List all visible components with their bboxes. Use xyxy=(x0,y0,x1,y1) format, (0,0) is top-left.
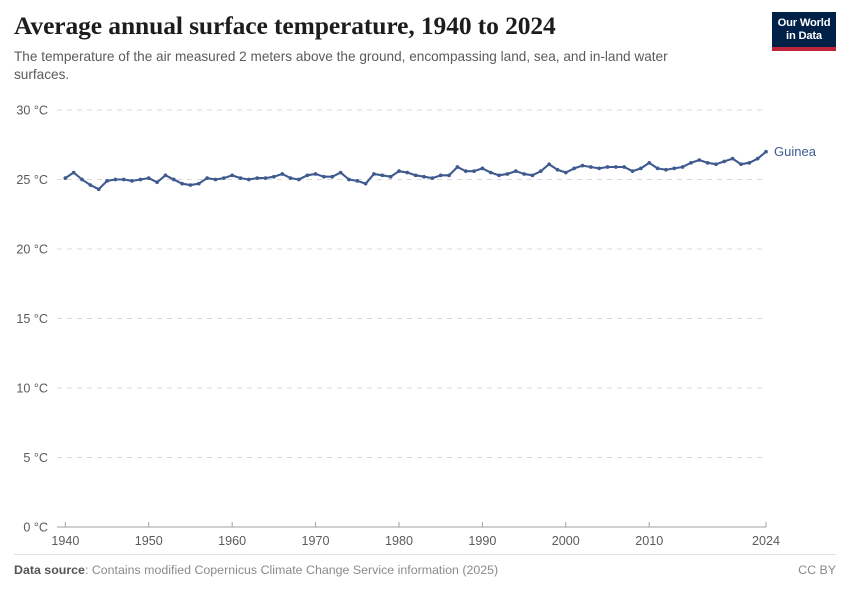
data-point[interactable] xyxy=(672,167,676,171)
line-chart-svg[interactable]: 0 °C5 °C10 °C15 °C20 °C25 °C30 °C 194019… xyxy=(0,96,850,551)
data-point[interactable] xyxy=(456,165,460,169)
data-point[interactable] xyxy=(364,182,368,186)
data-point[interactable] xyxy=(664,168,668,172)
data-point[interactable] xyxy=(180,182,184,186)
data-point[interactable] xyxy=(589,165,593,169)
data-point[interactable] xyxy=(581,164,585,168)
data-point[interactable] xyxy=(739,162,743,166)
x-axis-tick-label: 1970 xyxy=(302,534,330,548)
data-point[interactable] xyxy=(464,169,468,173)
our-world-in-data-logo[interactable]: Our Worldin Data xyxy=(772,12,836,51)
series-label-group: Guinea xyxy=(774,144,817,159)
data-point[interactable] xyxy=(155,180,159,184)
page-title: Average annual surface temperature, 1940… xyxy=(14,12,774,41)
data-point[interactable] xyxy=(305,173,309,177)
data-point[interactable] xyxy=(614,165,618,169)
series-line-guinea[interactable] xyxy=(65,152,766,190)
data-point[interactable] xyxy=(564,171,568,175)
data-point[interactable] xyxy=(205,176,209,180)
logo-text: Our Worldin Data xyxy=(772,12,836,47)
data-point[interactable] xyxy=(164,173,168,177)
data-point[interactable] xyxy=(556,168,560,172)
y-axis-tick-label: 30 °C xyxy=(16,104,48,118)
data-point[interactable] xyxy=(172,178,176,182)
x-axis-tick-label: 1980 xyxy=(385,534,413,548)
data-point[interactable] xyxy=(239,176,243,180)
data-point[interactable] xyxy=(405,171,409,175)
x-axis-tick-label: 2010 xyxy=(635,534,663,548)
data-point[interactable] xyxy=(414,173,418,177)
data-point[interactable] xyxy=(63,176,67,180)
data-point[interactable] xyxy=(572,167,576,171)
data-point[interactable] xyxy=(72,171,76,175)
data-point[interactable] xyxy=(422,175,426,179)
data-point[interactable] xyxy=(714,162,718,166)
data-point[interactable] xyxy=(681,165,685,169)
data-series-group[interactable] xyxy=(63,150,767,191)
data-point[interactable] xyxy=(130,179,134,183)
data-point[interactable] xyxy=(330,175,334,179)
data-point[interactable] xyxy=(255,176,259,180)
data-point[interactable] xyxy=(322,175,326,179)
data-point[interactable] xyxy=(522,172,526,176)
data-point[interactable] xyxy=(689,161,693,165)
data-source: Data source: Contains modified Copernicu… xyxy=(14,563,498,578)
data-point[interactable] xyxy=(647,161,651,165)
data-point[interactable] xyxy=(230,173,234,177)
data-point[interactable] xyxy=(747,161,751,165)
data-point[interactable] xyxy=(147,176,151,180)
data-point[interactable] xyxy=(347,178,351,182)
data-point[interactable] xyxy=(122,178,126,182)
data-point[interactable] xyxy=(314,172,318,176)
data-point[interactable] xyxy=(389,175,393,179)
series-label-guinea[interactable]: Guinea xyxy=(774,144,817,159)
data-point[interactable] xyxy=(372,172,376,176)
x-axis-tick-label: 1950 xyxy=(135,534,163,548)
y-axis-tick-label: 25 °C xyxy=(16,173,48,187)
chart-page: Average annual surface temperature, 1940… xyxy=(0,0,850,600)
data-point[interactable] xyxy=(656,167,660,171)
data-source-separator: : xyxy=(85,563,92,577)
data-point[interactable] xyxy=(539,169,543,173)
data-point[interactable] xyxy=(439,173,443,177)
data-point[interactable] xyxy=(506,172,510,176)
data-point[interactable] xyxy=(297,178,301,182)
data-point[interactable] xyxy=(222,176,226,180)
data-point[interactable] xyxy=(397,169,401,173)
data-point[interactable] xyxy=(380,173,384,177)
data-point[interactable] xyxy=(447,173,451,177)
data-point[interactable] xyxy=(531,173,535,177)
license-label[interactable]: CC BY xyxy=(798,563,836,578)
x-axis-group xyxy=(57,522,766,527)
data-point[interactable] xyxy=(706,161,710,165)
x-axis-tick-label: 1990 xyxy=(468,534,496,548)
data-point[interactable] xyxy=(97,187,101,191)
chart-area: 0 °C5 °C10 °C15 °C20 °C25 °C30 °C 194019… xyxy=(0,96,850,551)
logo-line-2: in Data xyxy=(786,30,822,42)
data-point[interactable] xyxy=(597,167,601,171)
x-axis-tick-label: 2024 xyxy=(752,534,780,548)
data-point[interactable] xyxy=(114,178,118,182)
x-axis-tick-label: 1960 xyxy=(218,534,246,548)
x-axis-labels-group: 194019501960197019801990200020102024 xyxy=(51,534,780,548)
data-point[interactable] xyxy=(89,183,93,187)
data-point[interactable] xyxy=(431,176,435,180)
data-point[interactable] xyxy=(105,179,109,183)
data-point[interactable] xyxy=(631,169,635,173)
chart-footer: Data source: Contains modified Copernicu… xyxy=(14,554,836,589)
data-point[interactable] xyxy=(280,172,284,176)
data-point[interactable] xyxy=(514,169,518,173)
chart-subtitle: The temperature of the air measured 2 me… xyxy=(14,48,726,84)
data-point[interactable] xyxy=(272,175,276,179)
y-axis-labels-group: 0 °C5 °C10 °C15 °C20 °C25 °C30 °C xyxy=(16,104,48,535)
data-point[interactable] xyxy=(355,179,359,183)
x-axis-tick-label: 1940 xyxy=(51,534,79,548)
data-point[interactable] xyxy=(639,167,643,171)
data-point[interactable] xyxy=(214,178,218,182)
y-axis-tick-label: 15 °C xyxy=(16,312,48,326)
gridlines-group xyxy=(57,110,766,458)
data-point[interactable] xyxy=(339,171,343,175)
data-point[interactable] xyxy=(756,157,760,161)
data-point[interactable] xyxy=(472,169,476,173)
data-point[interactable] xyxy=(606,165,610,169)
y-axis-tick-label: 10 °C xyxy=(16,382,48,396)
x-axis-tick-label: 2000 xyxy=(552,534,580,548)
data-point[interactable] xyxy=(731,157,735,161)
data-point[interactable] xyxy=(247,178,251,182)
y-axis-tick-label: 5 °C xyxy=(23,451,48,465)
chart-header: Average annual surface temperature, 1940… xyxy=(14,12,774,84)
data-source-label: Data source xyxy=(14,563,85,577)
data-point[interactable] xyxy=(764,150,768,154)
data-point[interactable] xyxy=(697,158,701,162)
data-point[interactable] xyxy=(289,176,293,180)
y-axis-tick-label: 20 °C xyxy=(16,243,48,257)
data-point[interactable] xyxy=(722,160,726,164)
data-point[interactable] xyxy=(547,162,551,166)
data-point[interactable] xyxy=(197,182,201,186)
data-point[interactable] xyxy=(481,167,485,171)
data-point[interactable] xyxy=(497,173,501,177)
logo-line-1: Our World xyxy=(778,17,831,29)
data-point[interactable] xyxy=(80,178,84,182)
data-point[interactable] xyxy=(622,165,626,169)
data-point[interactable] xyxy=(139,178,143,182)
y-axis-tick-label: 0 °C xyxy=(23,521,48,535)
data-source-text: Contains modified Copernicus Climate Cha… xyxy=(92,563,498,577)
data-point[interactable] xyxy=(264,176,268,180)
data-point[interactable] xyxy=(489,171,493,175)
data-point[interactable] xyxy=(189,183,193,187)
